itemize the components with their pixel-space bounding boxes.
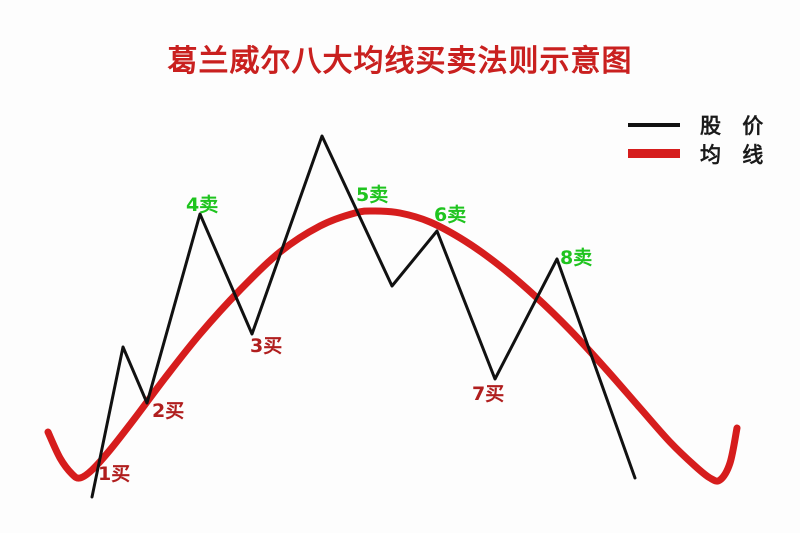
annotation-sell-8: 8卖 xyxy=(560,249,592,268)
chart-plot-area xyxy=(0,0,800,533)
annotation-buy-3: 3买 xyxy=(250,337,282,356)
annotation-sell-5: 5卖 xyxy=(356,186,388,205)
annotation-buy-1: 1买 xyxy=(98,465,130,484)
ma-line-series xyxy=(48,211,737,481)
annotation-buy-2: 2买 xyxy=(152,402,184,421)
chart-canvas: 葛兰威尔八大均线买卖法则示意图 股 价 均 线 1买2买3买4卖5卖6卖7买8卖 xyxy=(0,0,800,533)
annotation-sell-4: 4卖 xyxy=(186,196,218,215)
annotation-sell-6: 6卖 xyxy=(434,206,466,225)
annotation-buy-7: 7买 xyxy=(472,385,504,404)
